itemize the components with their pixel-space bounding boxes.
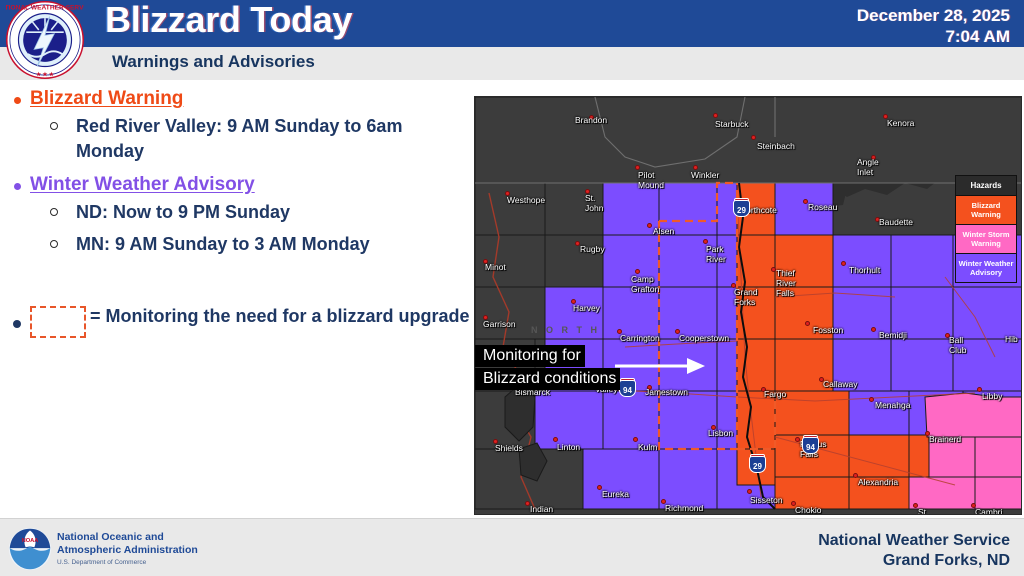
city-dot	[913, 503, 918, 508]
city-dot	[571, 299, 576, 304]
bullet-dot-icon	[14, 97, 21, 104]
legend-title: Hazards	[956, 176, 1016, 195]
city-dot	[747, 489, 752, 494]
city-dot	[771, 267, 776, 272]
office-identifier: National Weather Service Grand Forks, ND	[818, 531, 1010, 571]
city-dot	[883, 114, 888, 119]
legend-row-winter-weather-advisory: Winter Weather Advisory	[956, 253, 1016, 282]
city-dot	[493, 439, 498, 444]
city-dot	[977, 387, 982, 392]
city-dot	[525, 501, 530, 506]
city-dot	[589, 115, 594, 120]
sub-bullet: MN: 9 AM Sunday to 3 AM Monday	[0, 232, 470, 257]
city-dot	[585, 189, 590, 194]
page-subtitle: Warnings and Advisories	[112, 52, 315, 72]
hazard-label-winter-weather-advisory: Winter Weather Advisory	[30, 174, 255, 195]
sub-bullet-ring-icon	[50, 122, 58, 130]
city-dot	[647, 385, 652, 390]
map-callout: Monitoring for Blizzard conditions	[475, 345, 620, 390]
office-name: National Weather Service	[818, 531, 1010, 551]
city-dot	[795, 437, 800, 442]
city-dot	[675, 329, 680, 334]
monitoring-note-text: = Monitoring the need for a blizzard upg…	[90, 306, 470, 326]
city-dot	[761, 387, 766, 392]
hazard-label-blizzard-warning: Blizzard Warning	[30, 88, 183, 109]
city-dot	[483, 315, 488, 320]
hazard-group-blizzard-warning: Blizzard Warning Red River Valley: 9 AM …	[0, 88, 470, 164]
interstate-shield-icon: 29	[733, 200, 750, 217]
city-dot	[661, 499, 666, 504]
city-dot	[505, 191, 510, 196]
city-dot	[597, 485, 602, 490]
legend-row-blizzard-warning: Blizzard Warning	[956, 195, 1016, 224]
noaa-agency-name: National Oceanic and Atmospheric Adminis…	[57, 531, 198, 557]
monitoring-legend-note: = Monitoring the need for a blizzard upg…	[0, 303, 470, 338]
bullet-winter-weather-advisory: Winter Weather Advisory	[0, 174, 470, 196]
svg-text:★ ★ ★: ★ ★ ★	[35, 72, 54, 78]
page-title: Blizzard Today	[105, 0, 352, 41]
city-dot	[617, 329, 622, 334]
city-dot	[693, 165, 698, 170]
callout-arrow-icon	[615, 355, 705, 377]
footer: NOAA National Oceanic and Atmospheric Ad…	[0, 518, 1024, 576]
city-dot	[971, 503, 976, 508]
interstate-shield-icon: 94	[802, 437, 819, 454]
noaa-department: U.S. Department of Commerce	[57, 559, 146, 566]
city-dot	[635, 165, 640, 170]
office-location: Grand Forks, ND	[818, 551, 1010, 571]
legend-row-winter-storm-warning: Winter Storm Warning	[956, 224, 1016, 253]
sub-bullet: ND: Now to 9 PM Sunday	[0, 200, 470, 225]
sub-bullet-text: ND: Now to 9 PM Sunday	[76, 202, 290, 222]
map-legend: Hazards Blizzard Warning Winter Storm Wa…	[955, 175, 1017, 283]
city-dot	[803, 199, 808, 204]
city-dot	[635, 269, 640, 274]
national-weather-service-seal-icon: NATIONAL WEATHER SERVICE ★ ★ ★	[6, 1, 84, 79]
city-dot	[871, 155, 876, 160]
city-dot	[483, 259, 488, 264]
city-dot	[875, 217, 880, 222]
sub-bullet-text: Red River Valley: 9 AM Sunday to 6am Mon…	[76, 116, 402, 161]
sub-bullet-ring-icon	[50, 208, 58, 216]
city-dot	[925, 431, 930, 436]
noaa-logo-icon: NOAA	[8, 527, 52, 571]
hazards-map[interactable]: N O R T H	[474, 96, 1022, 515]
svg-text:NOAA: NOAA	[22, 538, 39, 544]
hazard-group-winter-weather-advisory: Winter Weather Advisory ND: Now to 9 PM …	[0, 174, 470, 257]
sub-bullet-text: MN: 9 AM Sunday to 3 AM Monday	[76, 234, 370, 254]
bullet-dot-icon	[13, 320, 21, 328]
callout-line-2: Blizzard conditions	[475, 368, 620, 390]
city-dot	[805, 321, 810, 326]
city-dot	[633, 437, 638, 442]
interstate-shield-icon: 29	[749, 456, 766, 473]
bullet-blizzard-warning: Blizzard Warning	[0, 88, 470, 110]
dashed-outline-swatch	[30, 306, 86, 338]
city-dot	[575, 241, 580, 246]
callout-line-1: Monitoring for	[475, 345, 585, 367]
interstate-shield-icon: 94	[619, 380, 636, 397]
bullet-dot-icon	[14, 183, 21, 190]
noaa-line-1: National Oceanic and	[57, 531, 198, 544]
city-dot	[731, 283, 736, 288]
header-date: December 28, 2025	[857, 5, 1010, 26]
city-dot	[751, 135, 756, 140]
city-dot	[819, 377, 824, 382]
header-time: 7:04 AM	[857, 26, 1010, 47]
city-dot	[713, 113, 718, 118]
city-dot	[945, 333, 950, 338]
slide-root: NATIONAL WEATHER SERVICE ★ ★ ★ Blizzard …	[0, 0, 1024, 576]
sub-bullet: Red River Valley: 9 AM Sunday to 6am Mon…	[0, 114, 470, 164]
city-dot	[871, 327, 876, 332]
header-datetime: December 28, 2025 7:04 AM	[857, 5, 1010, 47]
city-dot	[553, 437, 558, 442]
bullet-content: Blizzard Warning Red River Valley: 9 AM …	[0, 88, 470, 518]
city-dot	[791, 501, 796, 506]
svg-text:NATIONAL WEATHER SERVICE: NATIONAL WEATHER SERVICE	[6, 5, 84, 12]
city-dot	[841, 261, 846, 266]
city-dot	[703, 239, 708, 244]
sub-bullet-ring-icon	[50, 240, 58, 248]
city-dot	[647, 223, 652, 228]
city-dot	[869, 397, 874, 402]
city-dot	[853, 473, 858, 478]
city-dot	[711, 425, 716, 430]
state-label-north-dakota: N O R T H	[531, 325, 600, 335]
noaa-line-2: Atmospheric Administration	[57, 544, 198, 557]
map-polygons	[475, 97, 1022, 515]
